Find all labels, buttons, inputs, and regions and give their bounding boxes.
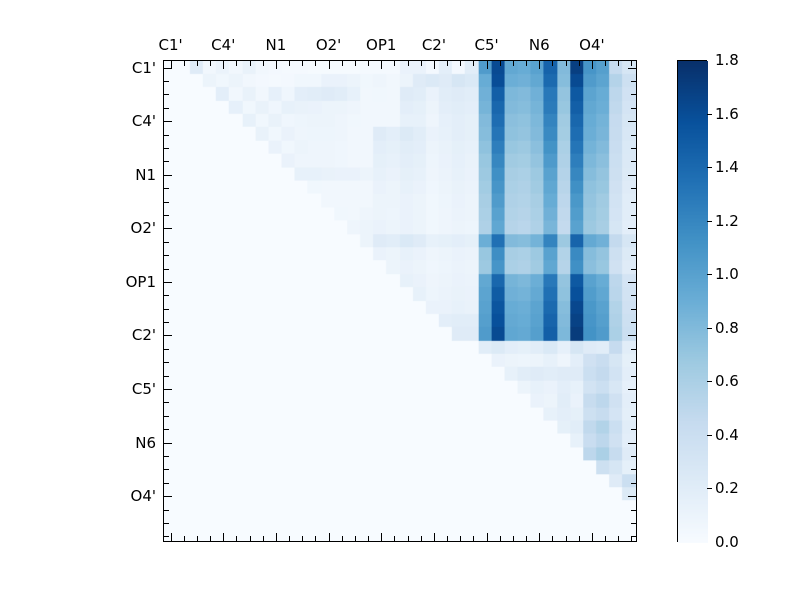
x-tick xyxy=(355,61,356,66)
x-tick xyxy=(197,536,198,541)
y-tick xyxy=(631,295,636,296)
y-tick xyxy=(631,81,636,82)
x-tick xyxy=(539,61,540,69)
y-tick xyxy=(628,389,636,390)
y-tick xyxy=(628,175,636,176)
x-tick xyxy=(355,536,356,541)
colorbar-tick xyxy=(707,221,712,222)
y-tick xyxy=(631,536,636,537)
y-tick xyxy=(164,228,172,229)
x-tick xyxy=(552,61,553,66)
x-tick xyxy=(460,536,461,541)
y-tick xyxy=(631,108,636,109)
y-tick xyxy=(631,242,636,243)
colorbar-tick xyxy=(707,488,712,489)
x-tick xyxy=(513,61,514,66)
y-tick xyxy=(164,389,172,390)
y-tick xyxy=(631,202,636,203)
heatmap-figure: C1'C4'N1O2'OP1C2'C5'N6O4' C1'C4'N1O2'OP1… xyxy=(0,0,800,600)
y-tick xyxy=(631,188,636,189)
y-tick xyxy=(164,429,169,430)
colorbar-tick-label: 1.2 xyxy=(715,212,739,230)
x-tick xyxy=(408,536,409,541)
y-tick xyxy=(164,94,169,95)
x-tick xyxy=(473,536,474,541)
colorbar-gradient xyxy=(678,61,708,543)
x-tick xyxy=(250,61,251,66)
x-tick xyxy=(447,61,448,66)
x-tick xyxy=(342,536,343,541)
y-tick xyxy=(164,175,172,176)
x-tick xyxy=(263,61,264,66)
colorbar-tick-label: 0.6 xyxy=(715,372,739,390)
x-tick-label: N1 xyxy=(266,36,287,54)
y-tick xyxy=(628,335,636,336)
y-tick-label: C5' xyxy=(132,380,156,398)
y-tick xyxy=(164,469,169,470)
x-tick xyxy=(513,536,514,541)
x-tick xyxy=(236,61,237,66)
x-tick xyxy=(342,61,343,66)
colorbar-tick-label: 0.8 xyxy=(715,319,739,337)
y-tick-label: N6 xyxy=(135,434,156,452)
y-tick xyxy=(631,510,636,511)
colorbar-tick-label: 0.4 xyxy=(715,426,739,444)
x-tick xyxy=(184,61,185,66)
y-tick xyxy=(631,376,636,377)
x-tick xyxy=(526,61,527,66)
y-tick-label: O2' xyxy=(131,219,156,237)
x-tick xyxy=(618,61,619,66)
y-tick xyxy=(631,135,636,136)
y-tick-label: C2' xyxy=(132,326,156,344)
x-tick xyxy=(552,536,553,541)
colorbar-tick-label: 0.0 xyxy=(715,533,739,551)
y-tick xyxy=(164,536,169,537)
colorbar-tick xyxy=(707,381,712,382)
x-tick xyxy=(236,536,237,541)
x-tick xyxy=(276,533,277,541)
y-tick-label: OP1 xyxy=(126,273,156,291)
x-tick-label: O2' xyxy=(316,36,341,54)
y-tick xyxy=(631,269,636,270)
y-tick xyxy=(631,255,636,256)
x-tick xyxy=(500,61,501,66)
y-tick xyxy=(631,429,636,430)
colorbar-tick xyxy=(707,274,712,275)
y-tick xyxy=(164,295,169,296)
x-tick-label: C4' xyxy=(211,36,235,54)
x-tick-label: C2' xyxy=(422,36,446,54)
y-tick xyxy=(164,121,172,122)
colorbar-body xyxy=(677,60,707,542)
y-tick xyxy=(164,510,169,511)
colorbar-tick-label: 0.2 xyxy=(715,479,739,497)
x-tick-label: O4' xyxy=(579,36,604,54)
y-tick-label: C1' xyxy=(132,59,156,77)
y-tick-label: O4' xyxy=(131,487,156,505)
y-tick xyxy=(164,309,169,310)
y-tick xyxy=(164,135,169,136)
y-tick xyxy=(164,322,169,323)
y-tick xyxy=(631,349,636,350)
y-tick xyxy=(164,81,169,82)
x-tick xyxy=(592,533,593,541)
y-tick xyxy=(628,282,636,283)
colorbar-tick-label: 1.8 xyxy=(715,51,739,69)
y-tick xyxy=(164,282,172,283)
x-tick xyxy=(579,536,580,541)
y-tick xyxy=(164,335,172,336)
colorbar-tick xyxy=(707,435,712,436)
y-tick xyxy=(631,483,636,484)
x-tick xyxy=(250,536,251,541)
x-tick xyxy=(263,536,264,541)
x-tick xyxy=(434,61,435,69)
y-tick xyxy=(164,255,169,256)
x-tick xyxy=(329,533,330,541)
x-tick xyxy=(460,61,461,66)
x-tick xyxy=(605,61,606,66)
y-tick xyxy=(628,228,636,229)
x-tick xyxy=(447,536,448,541)
x-tick xyxy=(223,61,224,69)
y-tick xyxy=(164,416,169,417)
y-tick xyxy=(628,121,636,122)
y-tick xyxy=(164,483,169,484)
x-tick xyxy=(210,61,211,66)
x-tick xyxy=(381,533,382,541)
y-tick-label: N1 xyxy=(135,166,156,184)
y-tick xyxy=(631,402,636,403)
x-tick xyxy=(289,61,290,66)
y-tick xyxy=(164,188,169,189)
y-tick xyxy=(164,523,169,524)
y-tick xyxy=(164,161,169,162)
colorbar-tick-label: 1.0 xyxy=(715,265,739,283)
heatmap-cells xyxy=(164,61,636,541)
x-tick xyxy=(368,536,369,541)
x-tick xyxy=(500,536,501,541)
x-tick-label: OP1 xyxy=(366,36,396,54)
x-tick xyxy=(276,61,277,69)
x-tick xyxy=(223,533,224,541)
y-tick xyxy=(631,456,636,457)
x-tick xyxy=(487,533,488,541)
y-tick xyxy=(628,443,636,444)
y-tick xyxy=(628,496,636,497)
colorbar: 0.00.20.40.60.81.01.21.41.61.8 xyxy=(677,60,707,542)
x-tick xyxy=(473,61,474,66)
y-tick xyxy=(164,269,169,270)
y-tick xyxy=(631,309,636,310)
x-tick xyxy=(579,61,580,66)
x-tick xyxy=(421,536,422,541)
y-tick xyxy=(164,456,169,457)
x-tick xyxy=(539,533,540,541)
x-tick xyxy=(434,533,435,541)
y-tick xyxy=(631,523,636,524)
x-tick xyxy=(315,61,316,66)
y-tick xyxy=(631,362,636,363)
y-tick xyxy=(628,68,636,69)
x-tick xyxy=(368,61,369,66)
x-tick xyxy=(605,536,606,541)
y-tick xyxy=(164,202,169,203)
y-tick xyxy=(164,443,172,444)
x-tick xyxy=(171,533,172,541)
y-tick xyxy=(164,242,169,243)
x-tick xyxy=(566,61,567,66)
y-tick xyxy=(631,322,636,323)
x-tick xyxy=(302,61,303,66)
heatmap-axes: C1'C4'N1O2'OP1C2'C5'N6O4' C1'C4'N1O2'OP1… xyxy=(163,60,637,542)
y-tick xyxy=(164,496,172,497)
y-tick xyxy=(631,416,636,417)
x-tick xyxy=(197,61,198,66)
y-tick xyxy=(164,215,169,216)
colorbar-tick-label: 1.4 xyxy=(715,158,739,176)
x-tick xyxy=(381,61,382,69)
x-tick-label: N6 xyxy=(529,36,550,54)
x-tick xyxy=(421,61,422,66)
y-tick xyxy=(164,349,169,350)
x-tick xyxy=(526,536,527,541)
y-tick xyxy=(631,161,636,162)
y-tick xyxy=(164,68,172,69)
x-tick xyxy=(566,536,567,541)
colorbar-tick-label: 1.6 xyxy=(715,105,739,123)
colorbar-tick xyxy=(707,328,712,329)
y-tick xyxy=(631,469,636,470)
x-tick xyxy=(302,536,303,541)
x-tick xyxy=(210,536,211,541)
y-tick xyxy=(164,362,169,363)
x-tick xyxy=(618,536,619,541)
x-tick xyxy=(289,536,290,541)
colorbar-tick xyxy=(707,167,712,168)
y-tick xyxy=(164,108,169,109)
x-tick xyxy=(394,61,395,66)
x-tick xyxy=(487,61,488,69)
y-tick xyxy=(164,402,169,403)
x-tick xyxy=(329,61,330,69)
y-tick xyxy=(631,94,636,95)
x-tick-label: C1' xyxy=(159,36,183,54)
y-tick-label: C4' xyxy=(132,112,156,130)
colorbar-tick xyxy=(707,114,712,115)
x-tick xyxy=(315,536,316,541)
x-tick xyxy=(408,61,409,66)
y-tick xyxy=(631,148,636,149)
x-tick xyxy=(184,536,185,541)
x-tick xyxy=(631,61,632,66)
x-tick xyxy=(592,61,593,69)
y-tick xyxy=(164,376,169,377)
y-tick xyxy=(631,215,636,216)
x-tick xyxy=(394,536,395,541)
y-tick xyxy=(164,148,169,149)
x-tick-label: C5' xyxy=(475,36,499,54)
